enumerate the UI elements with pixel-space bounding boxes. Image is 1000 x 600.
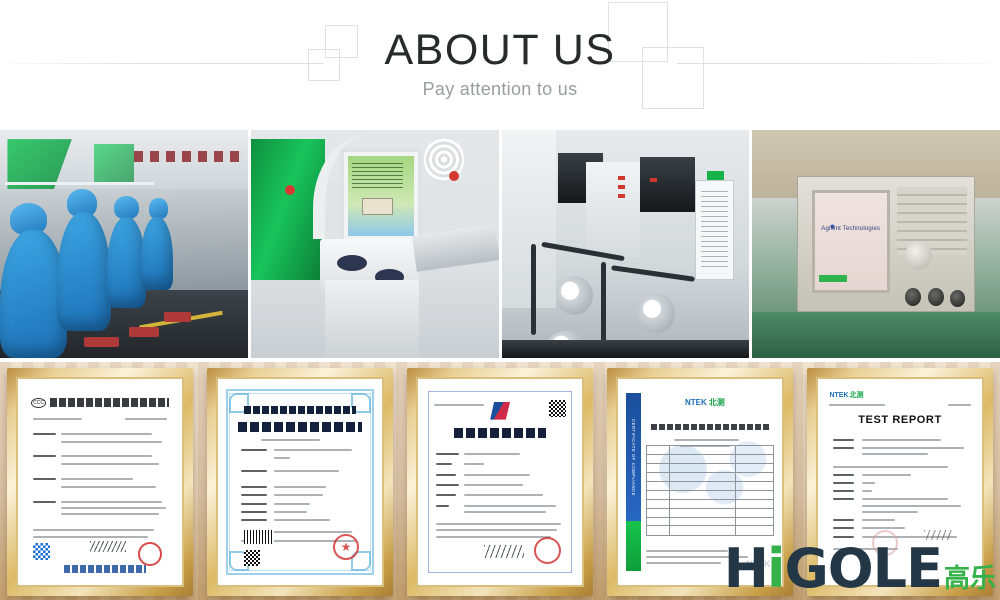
photo-image: Agilent Technologies bbox=[752, 130, 1000, 358]
picture-frame: CCC bbox=[7, 368, 193, 596]
photo-pick-and-place-feeders[interactable] bbox=[502, 130, 750, 358]
photo-image bbox=[251, 130, 499, 358]
agilent-brand-label: Agilent Technologies bbox=[815, 226, 887, 232]
certificate-title-text bbox=[651, 424, 769, 430]
certificate-issuer-text bbox=[244, 406, 356, 414]
page-subtitle: Pay attention to us bbox=[423, 79, 578, 100]
logo-letter-h: H bbox=[724, 542, 767, 596]
certificate-frame-design-patent[interactable] bbox=[400, 362, 600, 600]
header-title-block: ABOUT US Pay attention to us bbox=[0, 0, 1000, 128]
photo-image bbox=[0, 130, 248, 358]
photo-smt-inspection-machine[interactable] bbox=[251, 130, 499, 358]
certificate-title-text: TEST REPORT bbox=[844, 414, 956, 426]
about-us-page: ABOUT US Pay attention to us bbox=[0, 0, 1000, 600]
red-seal-icon bbox=[534, 537, 561, 564]
certificate-title-text bbox=[50, 398, 169, 407]
certificate-title-text bbox=[454, 428, 546, 438]
higole-logo: HiGOLE高乐 bbox=[724, 542, 996, 596]
ntek-logo: NTEK北测 bbox=[667, 398, 742, 407]
standards-table bbox=[646, 445, 774, 536]
signature bbox=[484, 545, 524, 558]
logo-letter-i: i bbox=[767, 542, 785, 596]
qr-code-icon bbox=[33, 543, 50, 560]
ccc-mark-icon: CCC bbox=[31, 398, 46, 408]
issuer-line bbox=[64, 565, 146, 573]
picture-frame: ★ bbox=[207, 368, 393, 596]
certificate-frame-software-copyright[interactable]: ★ bbox=[200, 362, 400, 600]
page-header: ABOUT US Pay attention to us bbox=[0, 0, 1000, 128]
photo-factory-assembly-line[interactable] bbox=[0, 130, 248, 358]
red-seal-icon bbox=[138, 542, 162, 566]
photo-image bbox=[502, 130, 750, 358]
sidebar-band-green bbox=[626, 521, 641, 570]
qr-code-icon bbox=[244, 550, 260, 566]
certificate-title-text bbox=[238, 422, 363, 432]
certificate-document: CCC bbox=[18, 379, 182, 585]
sidebar-label: CERTIFICATE OF COMPLIANCE bbox=[626, 393, 641, 521]
page-title: ABOUT US bbox=[384, 28, 615, 74]
logo-text-gole: GOLE bbox=[784, 542, 942, 596]
certificate-document bbox=[418, 379, 582, 585]
certificate-document: ★ bbox=[218, 379, 382, 585]
ntek-logo: NTEK北测 bbox=[829, 391, 895, 399]
picture-frame bbox=[407, 368, 593, 596]
certificate-frame-ccc[interactable]: CCC bbox=[0, 362, 200, 600]
signature bbox=[90, 541, 126, 552]
factory-photo-gallery: Agilent Technologies bbox=[0, 130, 1000, 358]
qr-code-icon bbox=[549, 400, 566, 417]
logo-text-chinese: 高乐 bbox=[944, 566, 996, 592]
barcode-icon bbox=[244, 530, 274, 544]
photo-agilent-test-equipment[interactable]: Agilent Technologies bbox=[752, 130, 1000, 358]
